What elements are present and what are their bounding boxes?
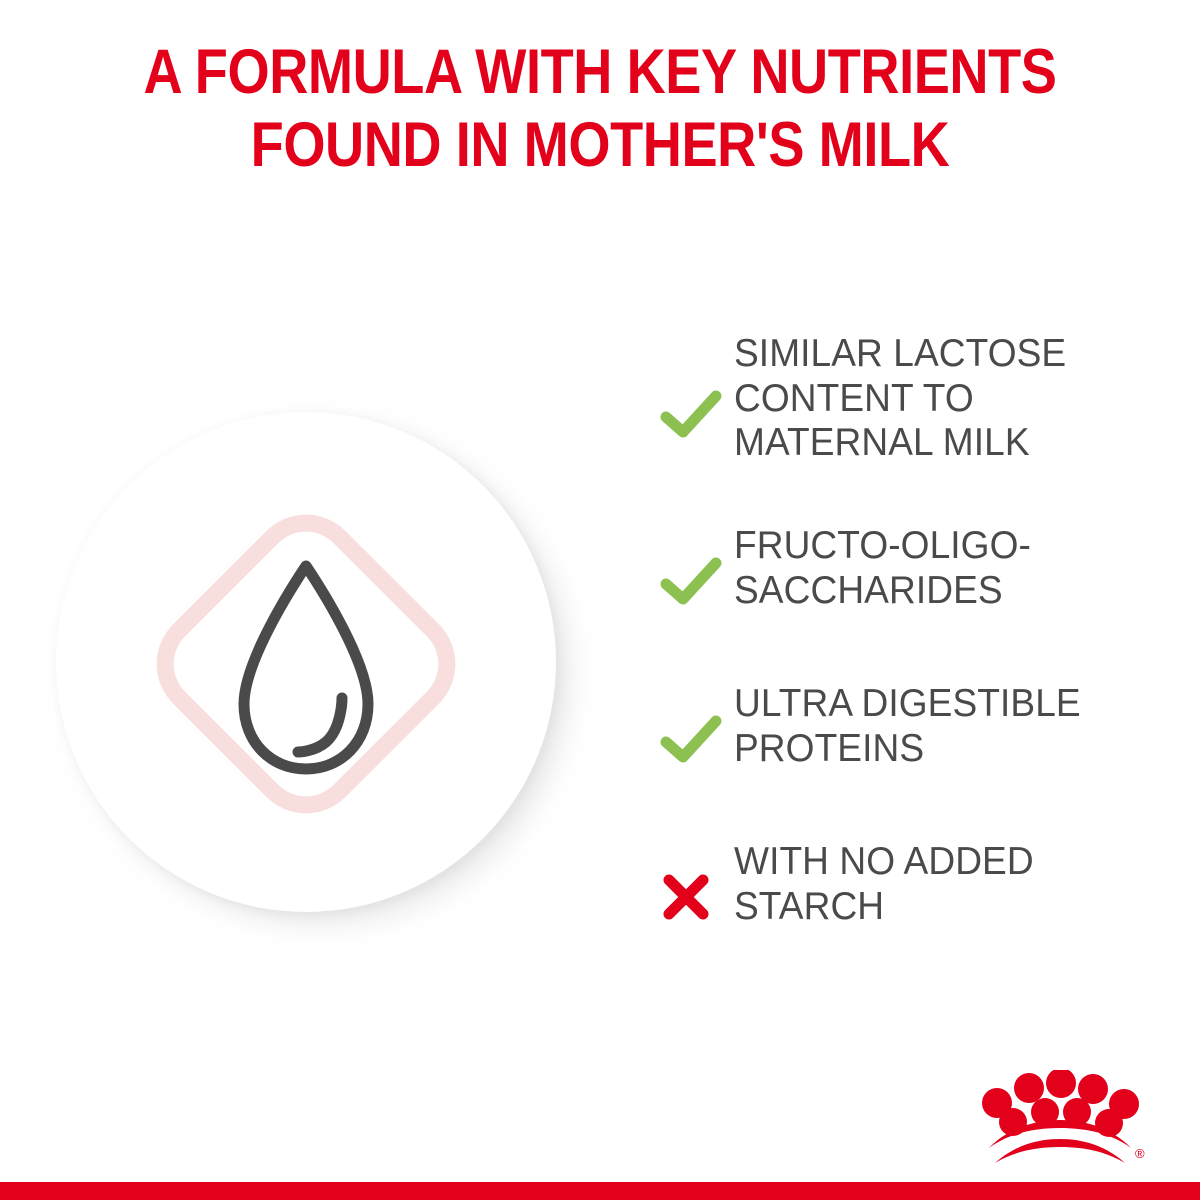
list-item-label: WITH NO ADDED STARCH	[734, 838, 1034, 929]
illustration-group	[36, 392, 576, 932]
list-item-label: ULTRA DIGESTIBLE PROTEINS	[734, 680, 1081, 771]
list-item: SIMILAR LACTOSE CONTENT TO MATERNAL MILK	[660, 330, 1130, 500]
headline-line-2: FOUND IN MOTHER'S MILK	[84, 109, 1116, 182]
page-title: A FORMULA WITH KEY NUTRIENTS FOUND IN MO…	[84, 36, 1116, 182]
list-item: WITH NO ADDED STARCH	[660, 838, 1130, 958]
infographic-canvas: A FORMULA WITH KEY NUTRIENTS FOUND IN MO…	[0, 0, 1200, 1200]
check-icon	[660, 714, 734, 764]
cross-icon	[660, 872, 734, 922]
registered-mark: ®	[1135, 1146, 1145, 1161]
water-droplet-icon	[226, 552, 386, 782]
list-item: ULTRA DIGESTIBLE PROTEINS	[660, 680, 1130, 800]
brand-footer-bar	[0, 1182, 1200, 1200]
check-icon	[660, 389, 734, 439]
royal-canin-crown-logo: ®	[975, 1070, 1145, 1170]
check-icon	[660, 556, 734, 606]
headline-line-1: A FORMULA WITH KEY NUTRIENTS	[84, 36, 1116, 109]
list-item: FRUCTO-OLIGO- SACCHARIDES	[660, 522, 1130, 642]
list-item-label: FRUCTO-OLIGO- SACCHARIDES	[734, 522, 1031, 613]
list-item-label: SIMILAR LACTOSE CONTENT TO MATERNAL MILK	[734, 330, 1066, 466]
benefits-list: SIMILAR LACTOSE CONTENT TO MATERNAL MILK…	[660, 330, 1130, 958]
